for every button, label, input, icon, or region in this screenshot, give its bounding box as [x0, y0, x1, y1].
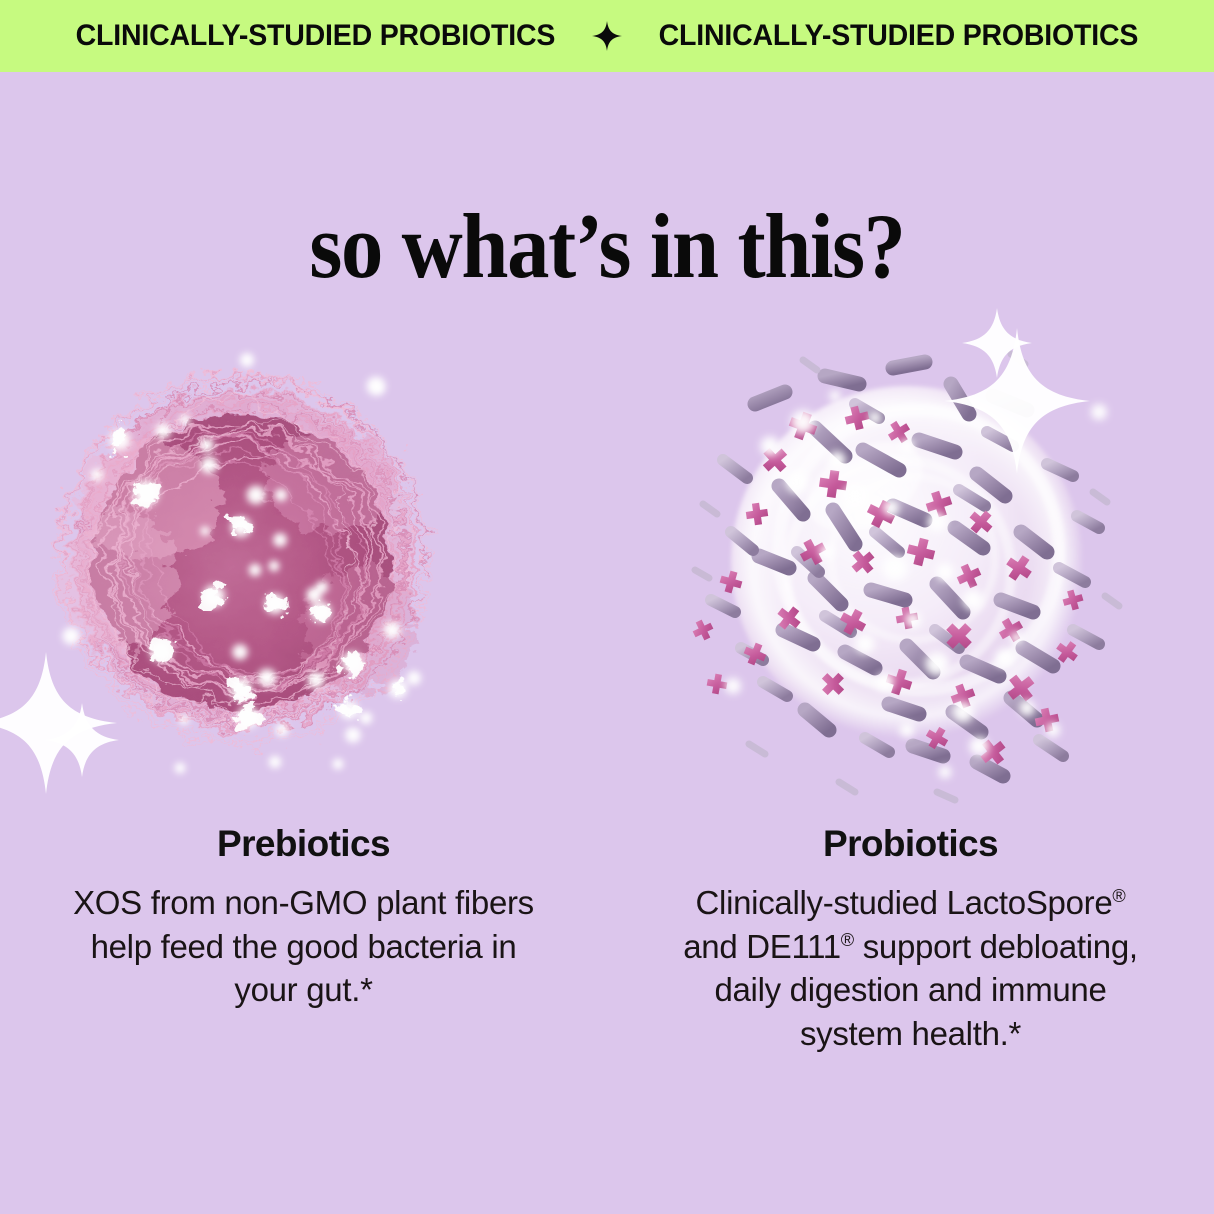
column-body-prebiotics: XOS from non-GMO plant fibers help feed … — [58, 881, 549, 1013]
probiotics-conjunction: and DE111 — [683, 928, 841, 965]
column-title-probiotics: Probiotics — [665, 824, 1156, 865]
registered-mark-icon: ® — [1112, 886, 1125, 906]
banner-text-right: CLINICALLY-STUDIED PROBIOTICS — [659, 19, 1139, 53]
sparkle-four-point-icon — [592, 21, 622, 51]
column-probiotics: Probiotics Clinically-studied LactoSpore… — [607, 824, 1214, 1056]
page-title: so what’s in this? — [49, 200, 1166, 292]
column-body-probiotics: Clinically-studied LactoSpore® and DE111… — [665, 881, 1156, 1057]
banner-text-left: CLINICALLY-STUDIED PROBIOTICS — [76, 19, 556, 53]
illustration-row — [0, 300, 1214, 820]
probiotics-line-1: Clinically-studied — [696, 884, 938, 921]
ingredient-columns: Prebiotics XOS from non-GMO plant fibers… — [0, 824, 1214, 1056]
prebiotic-fiber-ball-illustration — [0, 300, 607, 820]
registered-mark-icon: ® — [841, 930, 854, 950]
column-prebiotics: Prebiotics XOS from non-GMO plant fibers… — [0, 824, 607, 1056]
marquee-banner: CLINICALLY-STUDIED PROBIOTICS CLINICALLY… — [0, 0, 1214, 72]
prebiotic-fiber-ball-graphic — [0, 300, 607, 820]
ingredient-lactospore: LactoSpore — [947, 884, 1113, 921]
column-title-prebiotics: Prebiotics — [58, 824, 549, 865]
sparkle-large-icon — [0, 652, 117, 794]
product-ingredient-infographic: CLINICALLY-STUDIED PROBIOTICS CLINICALLY… — [0, 0, 1214, 1214]
probiotic-bacteria-sphere-illustration — [607, 300, 1214, 820]
probiotic-bacteria-sphere-graphic — [607, 300, 1214, 820]
